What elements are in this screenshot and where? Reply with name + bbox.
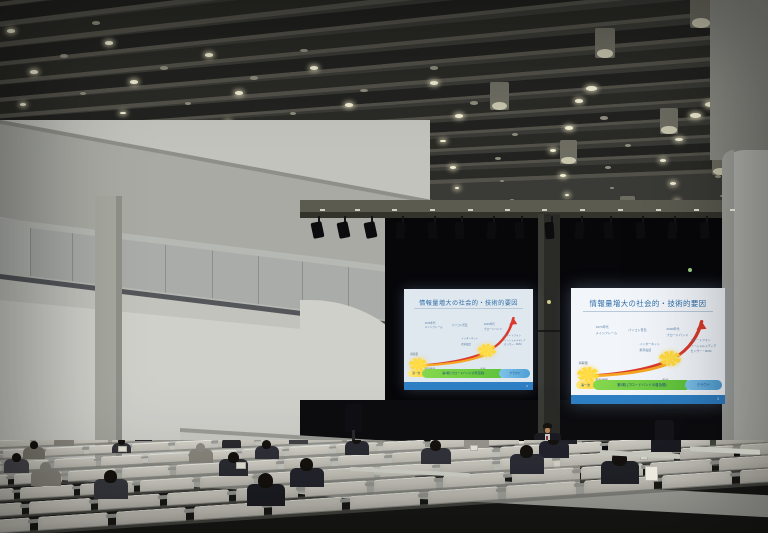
left-slide-title-rule — [414, 308, 522, 309]
audience-member-torso — [222, 440, 241, 448]
slide-bar-green: 第2期 (ブロードバンドの普及期) — [593, 380, 692, 390]
chart-label-social: ソーシャルメディア — [690, 344, 716, 348]
stage-light — [603, 222, 613, 240]
chart-label-sensor: センサー・M2M — [504, 342, 521, 346]
chart-axis-y-label: 情報量 — [410, 352, 418, 356]
chart-label-mainframe: メインフレーム — [596, 330, 617, 335]
audience-member-head — [40, 462, 51, 473]
ceiling-downlight — [450, 166, 456, 169]
right-slide-title: 情報量増大の社会的・技術的要因 — [583, 298, 712, 309]
chart-label-pc: パソコン普及 — [452, 323, 468, 327]
ceiling-light-can — [560, 140, 577, 164]
ceiling-downlight — [586, 86, 597, 91]
ceiling-light-can — [595, 28, 615, 58]
ceiling-downlight — [160, 66, 168, 70]
ceiling-downlight — [20, 103, 26, 106]
ceiling-downlight — [495, 157, 501, 160]
seat-notice-card — [470, 445, 478, 451]
curtain-fold — [30, 228, 31, 276]
pa-speaker-left — [345, 404, 362, 432]
audience-member-head — [12, 453, 21, 462]
chart-label-mobile: 携帯電話 — [639, 348, 651, 352]
curtain-fold — [258, 256, 259, 304]
chart-label-era-1970: 1970年代 — [596, 324, 609, 329]
ceiling-light-can — [690, 0, 712, 28]
seat-notice-card — [236, 462, 246, 469]
ceiling-downlight — [250, 76, 258, 80]
audience-member-torso — [651, 440, 681, 452]
seat-notice-card — [118, 446, 127, 452]
stage-light — [486, 222, 497, 240]
truss-clamp — [355, 209, 360, 211]
slide-bar-green-label: 第2期 (ブロードバンドの普及期) — [422, 369, 505, 378]
right-slide-chart: 1970年代 メインフレーム パソコン普及 インターネット 携帯電話 2000年… — [577, 318, 719, 385]
audience-member-torso — [289, 440, 308, 444]
center-pillar-highlight — [538, 214, 544, 442]
ceiling-downlight — [30, 70, 38, 74]
ceiling-downlight — [575, 99, 583, 103]
truss-clamp — [320, 209, 325, 211]
chart-label-smartphone: スマートフォン — [504, 333, 521, 337]
stage-light — [574, 222, 585, 240]
audience-member-head — [520, 445, 533, 458]
slide-bar-green-label: 第2期 (ブロードバンドの普及期) — [593, 380, 692, 390]
ceiling-downlight — [7, 29, 15, 33]
ceiling-downlight — [455, 114, 463, 118]
chart-label-internet: インターネット — [639, 342, 659, 346]
ceiling-downlight — [345, 103, 353, 107]
chart-label-broadband: ブロードバンド — [484, 327, 502, 331]
chart-label-sensor: センサー・M2M — [690, 349, 711, 353]
left-slide-title: 情報量増大の社会的・技術的要因 — [414, 298, 522, 307]
right-slide-title-rule — [583, 311, 712, 312]
ceiling-downlight — [430, 66, 438, 70]
stage-light — [699, 222, 709, 240]
audience-member-head — [228, 452, 239, 463]
chart-label-mainframe: メインフレーム — [425, 325, 443, 329]
ceiling-downlight — [455, 187, 459, 189]
chart-axis-y-label: 情報量 — [579, 360, 588, 365]
truss-clamp — [694, 209, 699, 211]
ceiling-downlight — [500, 180, 504, 182]
burst-marker-1 — [412, 360, 425, 369]
presenter-hair — [543, 423, 552, 428]
auditorium-photo: 情報量増大の社会的・技術的要因 1970年代 メインフレーム パソコン普及 イン… — [0, 0, 768, 533]
audience-member-head — [104, 470, 117, 483]
ceiling-downlight — [185, 102, 191, 105]
ceiling-light-can — [490, 82, 509, 110]
right-slide-page-number: 3 — [717, 395, 719, 404]
truss-clamp — [580, 209, 585, 211]
audience-member-head — [30, 441, 38, 449]
ceiling-downlight — [565, 126, 573, 130]
presenter-face — [545, 428, 550, 433]
ceiling-light-can — [660, 108, 678, 134]
ceiling-downlight — [610, 187, 614, 189]
stage-light — [395, 222, 406, 240]
left-slide-chart: 1970年代 メインフレーム パソコン普及 インターネット 携帯電話 2000年… — [409, 315, 528, 374]
slide-bar-green: 第2期 (ブロードバンドの普及期) — [422, 369, 505, 378]
truss-clamp — [468, 209, 473, 211]
truss-clamp — [656, 209, 661, 211]
audience-member-head — [300, 458, 313, 471]
center-pillar-seam — [538, 330, 560, 332]
curtain-fold — [72, 233, 73, 281]
curtain-fold — [165, 245, 166, 293]
pillar-indicator-light — [547, 300, 551, 304]
chart-label-mobile: 携帯電話 — [461, 342, 471, 346]
chart-label-internet: インターネット — [461, 336, 478, 340]
slide-bar-blue-label: クラウド — [499, 369, 530, 378]
audience-member-head — [430, 440, 441, 451]
ceiling-downlight — [565, 194, 569, 196]
ceiling-downlight — [675, 138, 683, 142]
stage-light — [454, 222, 464, 240]
stage-light — [544, 222, 554, 240]
left-projection-screen[interactable]: 情報量増大の社会的・技術的要因 1970年代 メインフレーム パソコン普及 イン… — [404, 289, 533, 390]
slide-bar-blue: クラウド — [685, 380, 722, 390]
right-slide-footer: 3 — [571, 395, 725, 404]
curtain-fold — [212, 250, 213, 298]
truss-clamp — [392, 209, 397, 211]
chart-label-broadband: ブロードバンド — [666, 332, 688, 337]
ceiling-downlight — [660, 159, 666, 162]
burst-marker-1 — [580, 369, 596, 380]
audience-member-torso — [54, 440, 74, 446]
ceiling-downlight — [105, 41, 113, 45]
audience-member-head — [118, 440, 125, 445]
left-slide-footer: 3 — [404, 382, 533, 390]
truss-clamp — [618, 209, 623, 211]
green-indicator-light — [688, 268, 692, 272]
stage-light — [667, 222, 678, 240]
truss-clamp — [430, 209, 435, 211]
slide-bar-blue: クラウド — [499, 369, 530, 378]
ceiling-downlight — [430, 81, 438, 85]
truss-clamp — [542, 209, 547, 211]
truss-clamp — [505, 209, 510, 211]
chart-label-social: ソーシャルメディア — [504, 338, 525, 342]
chart-label-era-2000: 2000年代 — [484, 322, 495, 326]
left-slide-page-number: 3 — [526, 382, 528, 390]
stage-light — [635, 222, 645, 240]
stage-light — [427, 222, 437, 240]
right-wall-upper — [710, 0, 768, 160]
ceiling-downlight — [690, 113, 701, 118]
ceiling-downlight — [560, 174, 566, 177]
ceiling-downlight — [605, 166, 611, 169]
floor-notice-board — [645, 466, 658, 481]
audience-member-head — [196, 443, 205, 452]
chart-label-pc: パソコン普及 — [628, 327, 647, 332]
ceiling-downlight — [670, 182, 676, 185]
slide-bar-blue-label: クラウド — [685, 380, 722, 390]
ceiling-downlight — [80, 92, 86, 95]
audience-member-head — [262, 440, 271, 449]
burst-marker-2 — [662, 353, 678, 364]
concrete-column-shadow — [116, 196, 122, 466]
right-projection-screen[interactable]: 情報量増大の社会的・技術的要因 1970年代 メインフレーム パソコン普及 イン… — [571, 288, 725, 404]
stage-light — [514, 222, 524, 240]
chart-label-era-2000: 2000年代 — [666, 326, 679, 331]
ceiling-downlight — [600, 116, 608, 120]
chart-label-era-1970: 1970年代 — [425, 321, 436, 325]
audience-member-head — [258, 473, 273, 488]
truss-clamp — [730, 209, 735, 211]
ceiling-downlight — [290, 112, 296, 115]
burst-marker-2 — [480, 346, 493, 355]
chart-label-smartphone: スマートフォン — [690, 338, 710, 342]
ceiling-downlight — [715, 175, 721, 178]
